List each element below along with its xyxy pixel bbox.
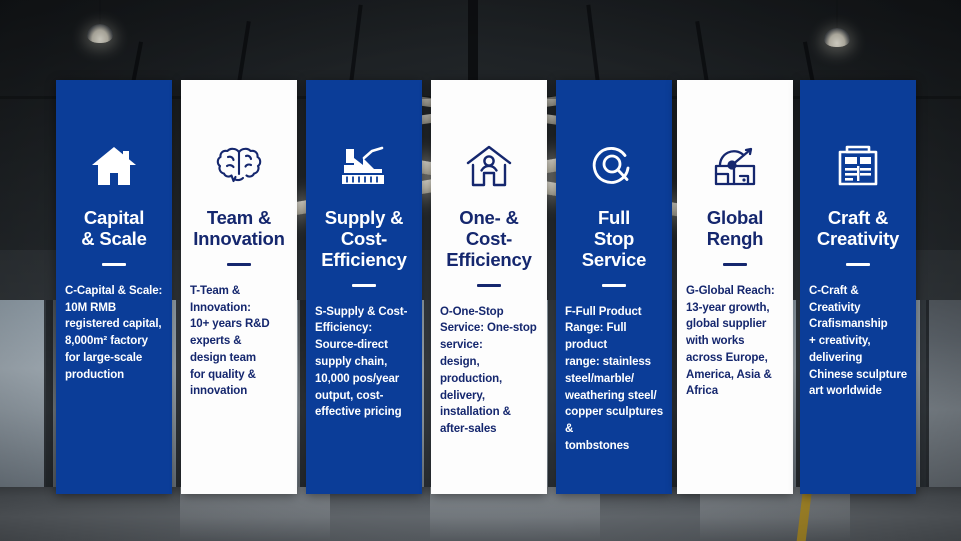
- brain-icon: [215, 138, 263, 194]
- panel-title: Craft & Creativity: [809, 208, 907, 250]
- panel-body: T-Team & Innovation: 10+ years R&D exper…: [190, 283, 288, 400]
- magnifier-circle-icon: [591, 138, 637, 194]
- panel-team-innovation[interactable]: Team & Innovation T-Team & Innovation: 1…: [181, 80, 297, 494]
- title-divider: [602, 284, 626, 287]
- panel-title: Team & Innovation: [190, 208, 288, 250]
- globe-map-icon: [710, 138, 760, 194]
- panel-title: Global Rengh: [686, 208, 784, 250]
- panel-body: C-Craft & Creativity Crafismanship + cre…: [809, 283, 907, 400]
- panel-title: Supply & Cost-Efficiency: [315, 208, 413, 271]
- panel-body: C-Capital & Scale: 10M RMB registered ca…: [65, 283, 163, 384]
- title-divider: [477, 284, 501, 287]
- panel-body: S-Supply & Cost- Efficiency: Source-dire…: [315, 304, 413, 421]
- panel-title: One- & Cost-Efficiency: [440, 208, 538, 271]
- panel-body: F-Full Product Range: Full product range…: [565, 304, 663, 455]
- panel-group: Capital & Scale C-Capital & Scale: 10M R…: [0, 0, 961, 541]
- panel-global-reach[interactable]: Global Rengh G-Global Reach: 13-year gro…: [677, 80, 793, 494]
- panel-body: O-One-Stop Service: One-stop service: de…: [440, 304, 538, 438]
- title-divider: [102, 263, 126, 266]
- craft-document-icon: [835, 138, 881, 194]
- house-icon: [91, 138, 137, 194]
- infographic-banner-slide: Capital & Scale C-Capital & Scale: 10M R…: [0, 0, 961, 541]
- panel-capital-scale[interactable]: Capital & Scale C-Capital & Scale: 10M R…: [56, 80, 172, 494]
- title-divider: [846, 263, 870, 266]
- panel-craft-creativity[interactable]: Craft & Creativity C-Craft & Creativity …: [800, 80, 916, 494]
- panel-supply-cost-efficiency[interactable]: Supply & Cost-Efficiency S-Supply & Cost…: [306, 80, 422, 494]
- factory-icon: [338, 138, 390, 194]
- panel-title: Full Stop Service: [565, 208, 663, 271]
- title-divider: [352, 284, 376, 287]
- panel-full-stop-service[interactable]: Full Stop Service F-Full Product Range: …: [556, 80, 672, 494]
- panel-title: Capital & Scale: [65, 208, 163, 250]
- house-person-icon: [465, 138, 513, 194]
- panel-body: G-Global Reach: 13-year growth, global s…: [686, 283, 784, 400]
- title-divider: [227, 263, 251, 266]
- title-divider: [723, 263, 747, 266]
- panel-one-stop-service[interactable]: One- & Cost-Efficiency O-One-Stop Servic…: [431, 80, 547, 494]
